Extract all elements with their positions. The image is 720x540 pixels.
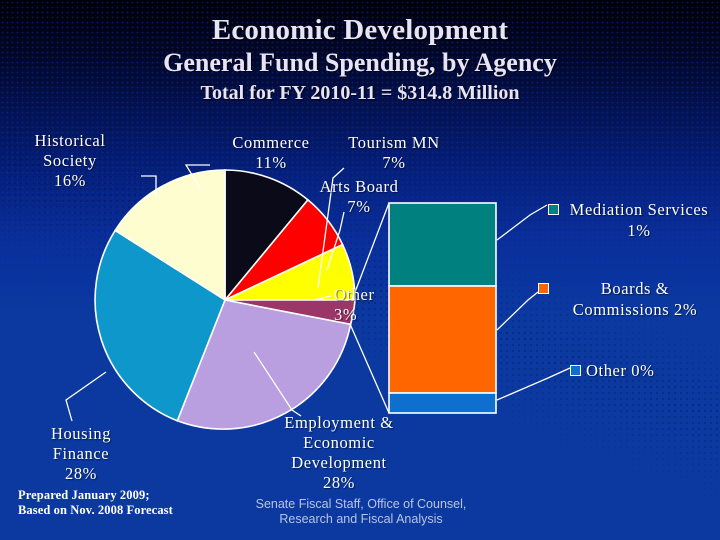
leader-line-bar-explode-bottom	[350, 324, 389, 413]
pie-label-historical-society: Historical Society 16%	[6, 131, 134, 191]
pie-label-employment-economic-development: Employment & Economic Development 28%	[256, 413, 422, 493]
footnote-prepared-date: Prepared January 2009; Based on Nov. 200…	[18, 488, 228, 518]
footnote-source-credit: Senate Fiscal Staff, Office of Counsel, …	[228, 497, 494, 527]
legend-item-other[interactable]: Other 0%	[570, 360, 716, 381]
pie-label-tourism-mn: Tourism MN 7%	[330, 133, 458, 173]
pie-label-arts-board: Arts Board 7%	[303, 177, 415, 217]
bar-segment-other[interactable]	[389, 393, 496, 413]
leader-line-housing-finance	[66, 372, 106, 421]
legend-label-mediation-services: Mediation Services 1%	[564, 199, 714, 241]
legend-label-boards-commissions: Boards & Commissions 2%	[554, 278, 716, 320]
legend-item-boards-commissions[interactable]: Boards & Commissions 2%	[538, 278, 716, 320]
legend-item-mediation-services[interactable]: Mediation Services 1%	[548, 199, 714, 241]
leader-line-mediation	[497, 205, 547, 240]
pie-label-other: Other 3%	[334, 285, 420, 325]
leader-line-other-legend	[497, 368, 570, 400]
pie-label-commerce: Commerce 11%	[205, 133, 337, 173]
leader-line-boards	[497, 292, 538, 330]
legend-swatch-other	[570, 365, 581, 376]
pie-label-housing-finance: Housing Finance 28%	[6, 424, 156, 484]
slide-canvas: Economic Development General Fund Spendi…	[0, 0, 720, 540]
legend-label-other: Other 0%	[586, 360, 716, 381]
legend-swatch-mediation-services	[548, 204, 559, 215]
legend-swatch-boards-commissions	[538, 283, 549, 294]
